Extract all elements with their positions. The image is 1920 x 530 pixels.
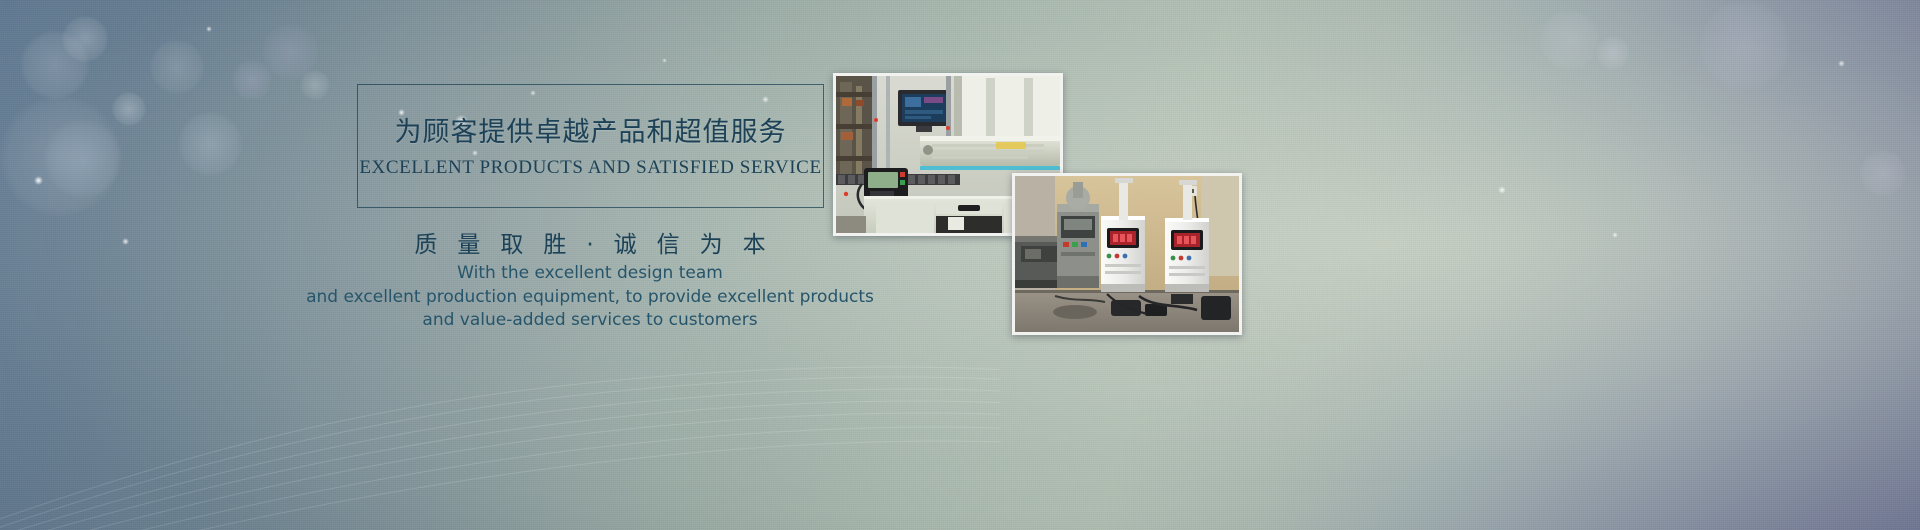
photo-testing-equipment (1012, 173, 1242, 335)
slogan-chinese: 质量取胜·诚信为本 (330, 225, 850, 259)
description-line: and value-added services to customers (260, 309, 920, 333)
description-line: and excellent production equipment, to p… (260, 286, 920, 310)
headline-english: EXCELLENT PRODUCTS AND SATISFIED SERVICE (357, 157, 824, 179)
headline-chinese: 为顾客提供卓越产品和超值服务 (357, 110, 824, 149)
description-line: With the excellent design team (260, 262, 920, 286)
photo-testing-equipment-image (1015, 176, 1239, 332)
promo-banner: 为顾客提供卓越产品和超值服务 EXCELLENT PRODUCTS AND SA… (0, 0, 1920, 530)
description-paragraph: With the excellent design team and excel… (260, 262, 920, 333)
